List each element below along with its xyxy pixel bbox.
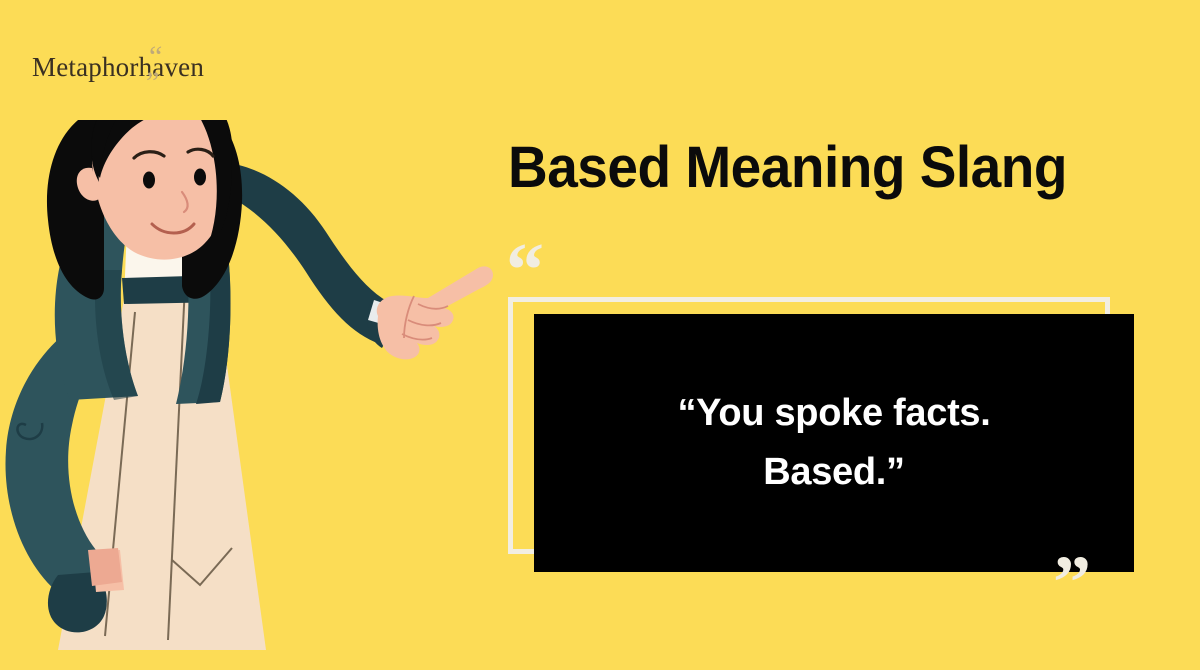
pointing-hand — [377, 266, 493, 359]
woman-pointing-illustration — [0, 120, 500, 670]
poster-canvas: Metaphorhaven “ ” Based Meaning Slang “ … — [0, 0, 1200, 670]
eye-left — [143, 172, 155, 189]
quote-line-1: “You spoke facts. — [677, 384, 990, 443]
quote-line-2: Based.” — [763, 443, 905, 502]
brand-logo-text: Metaphorhaven — [32, 52, 204, 83]
quote-card-text: “You spoke facts. Based.” — [534, 314, 1134, 572]
eye-right — [194, 169, 206, 186]
page-title: Based Meaning Slang — [508, 133, 1067, 201]
brand-logo[interactable]: Metaphorhaven “ ” — [30, 38, 260, 98]
logo-quote-close-icon: ” — [146, 68, 159, 98]
quote-close-icon: ” — [1053, 545, 1091, 621]
left-hand-shadow — [88, 548, 122, 586]
